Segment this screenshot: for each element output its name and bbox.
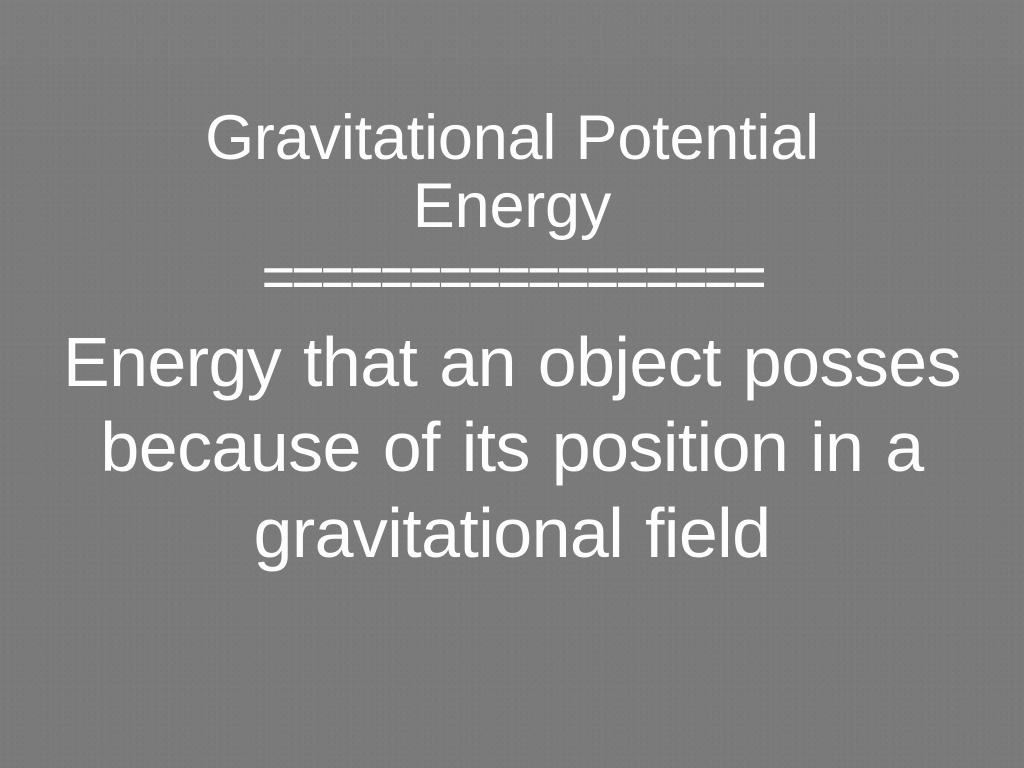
slide-content: Gravitational Potential Energy =========…: [0, 0, 1024, 768]
slide-body-text: Energy that an object posses because of …: [32, 320, 992, 576]
slide-title: Gravitational Potential Energy: [117, 104, 907, 240]
divider-rule: =================: [142, 260, 882, 296]
slide-canvas: Gravitational Potential Energy =========…: [0, 0, 1024, 768]
